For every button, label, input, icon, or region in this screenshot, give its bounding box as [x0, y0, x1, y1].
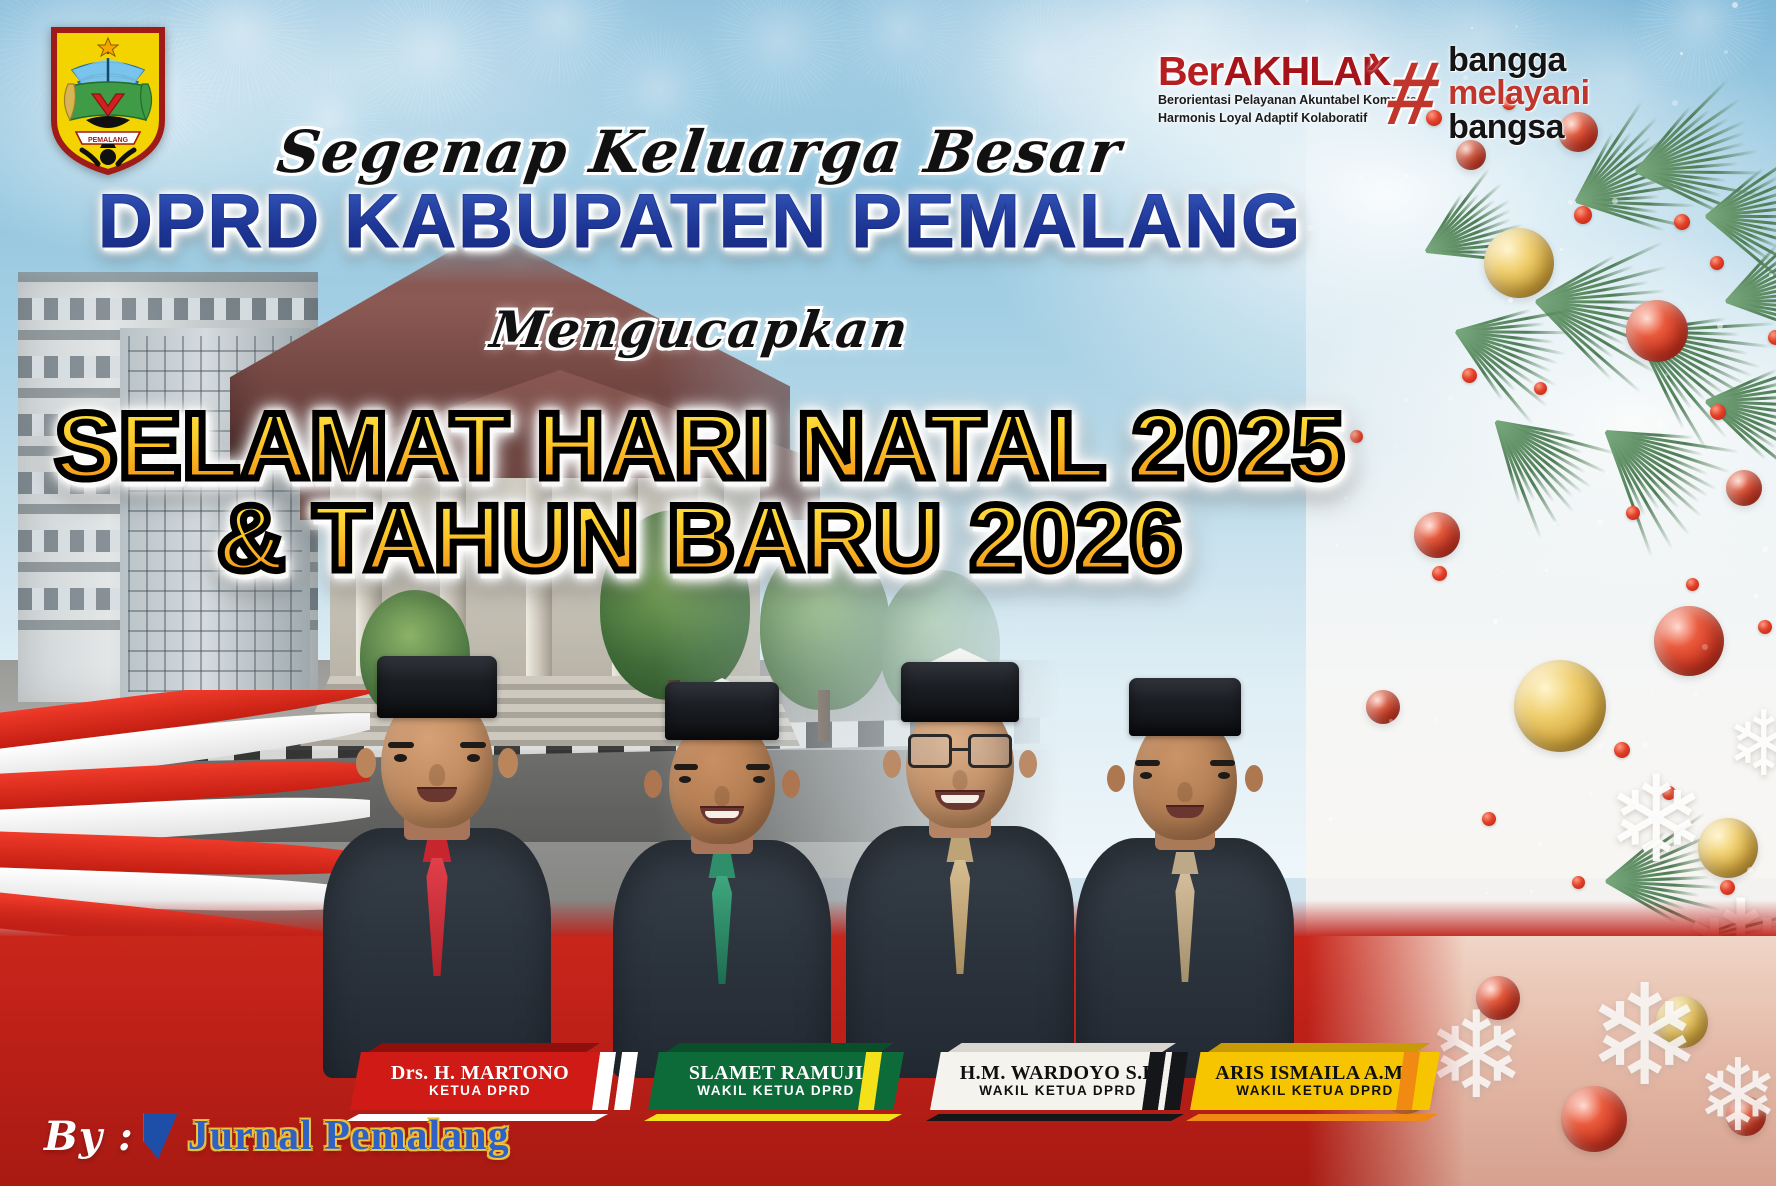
bangga-line-3: bangsa: [1448, 111, 1590, 144]
snow-dot: [1508, 298, 1513, 303]
snow-dot: [1657, 421, 1663, 427]
bangga-melayani-bangsa-logo: # bangga melayani bangsa: [1388, 46, 1738, 142]
snow-dot: [1403, 173, 1408, 178]
portrait-wardoyo: [845, 648, 1075, 1078]
berakhlak-prefix: Ber: [1158, 48, 1223, 94]
snow-dot: [1620, 150, 1623, 153]
nameplate-0: Drs. H. MARTONO KETUA DPRD: [350, 1052, 610, 1110]
nameplate-2-underline: [926, 1114, 1184, 1121]
nameplate-2-role: WAKIL KETUA DPRD: [979, 1084, 1136, 1099]
bangga-line-1: bangga: [1448, 44, 1590, 77]
snow-dot: [1665, 373, 1668, 376]
snow-dot: [1605, 471, 1608, 474]
snow-dot: [1560, 248, 1563, 251]
portrait-slamet-ramuji: [612, 678, 832, 1078]
christmas-bauble: [1484, 228, 1554, 298]
snow-dot: [1553, 521, 1558, 526]
nameplate-1-underline: [644, 1114, 902, 1121]
christmas-bauble: [1414, 512, 1460, 558]
portrait-aris-ismaila: [1075, 678, 1295, 1078]
credit-block: By : Jurnal Pemalang: [44, 1112, 510, 1160]
snow-dot: [1568, 200, 1573, 205]
snow-dot: [1597, 519, 1603, 525]
christmas-bauble: [1726, 470, 1762, 506]
berakhlak-tagline-1: Berorientasi Pelayanan Akuntabel Kompete…: [1158, 93, 1364, 109]
credit-brand: Jurnal Pemalang: [188, 1112, 510, 1160]
snow-dot: [1515, 25, 1518, 28]
nameplate-2-tab: [948, 1043, 1176, 1052]
nameplate-1-tab: [666, 1043, 894, 1052]
nameplate-3-tab: [1208, 1043, 1430, 1052]
credit-by-label: By :: [44, 1113, 134, 1160]
institution-title: DPRD KABUPATEN PEMALANG: [0, 178, 1400, 265]
nameplates-row: Drs. H. MARTONO KETUA DPRD SLAMET RAMUJI…: [0, 1052, 1776, 1114]
snow-dot: [1448, 396, 1453, 401]
mengucapkan-script: Mengucapkan: [0, 300, 1404, 359]
snow-dot: [1471, 27, 1473, 29]
hashtag-icon: #: [1382, 63, 1443, 126]
nameplate-3-name: ARIS ISMAILA A.Md: [1215, 1063, 1415, 1084]
snow-dot: [1717, 323, 1723, 329]
snow-dot: [1709, 371, 1713, 375]
nameplate-1-role: WAKIL KETUA DPRD: [697, 1084, 854, 1099]
snow-dot: [1404, 398, 1408, 402]
peci-cap-icon: [1129, 678, 1241, 736]
nameplate-0-name: Drs. H. MARTONO: [391, 1063, 569, 1084]
peci-cap-icon: [901, 662, 1019, 722]
holly-berry: [1674, 214, 1690, 230]
peci-cap-icon: [665, 682, 779, 740]
bangga-line-2: melayani: [1448, 77, 1590, 110]
snow-dot: [1762, 546, 1768, 552]
snow-dot: [1500, 346, 1503, 349]
nameplate-2-name: H.M. WARDOYO S.E: [960, 1063, 1157, 1084]
portrait-martono: [322, 658, 552, 1078]
nameplate-0-role: KETUA DPRD: [429, 1084, 531, 1099]
nameplate-0-tab: [368, 1043, 600, 1052]
berakhlak-wordmark: BerAKHLAK ›: [1158, 52, 1364, 91]
holly-berry: [1710, 256, 1724, 270]
holly-berry: [1768, 330, 1776, 345]
snow-dot: [1612, 198, 1618, 204]
snow-dot: [1456, 348, 1458, 350]
holly-berry: [1626, 506, 1640, 520]
snow-dot: [1306, 0, 1308, 2]
christmas-bauble: [1626, 300, 1688, 362]
holly-berry: [1574, 206, 1592, 224]
snow-dot: [1732, 2, 1738, 8]
snow-dot: [1769, 273, 1773, 277]
holly-berry: [1534, 382, 1547, 395]
nameplate-0-slash: [614, 1052, 638, 1110]
poster-canvas: ❄❄❄❄ ❄❄❄ PEMALANG: [0, 0, 1776, 1186]
nameplate-3-role: WAKIL KETUA DPRD: [1236, 1084, 1393, 1099]
nameplate-3-underline: [1186, 1114, 1438, 1121]
greeting-script-line: Segenap Keluarga Besar: [0, 118, 1405, 186]
eyeglasses-icon: [908, 734, 1012, 770]
nameplate-1-name: SLAMET RAMUJI: [689, 1063, 863, 1084]
jurnal-pemalang-logo-icon: [144, 1113, 178, 1159]
holly-berry: [1710, 404, 1726, 420]
holly-berry: [1462, 368, 1477, 383]
berakhlak-logo: BerAKHLAK › Berorientasi Pelayanan Akunt…: [1158, 52, 1364, 126]
peci-cap-icon: [377, 656, 497, 718]
